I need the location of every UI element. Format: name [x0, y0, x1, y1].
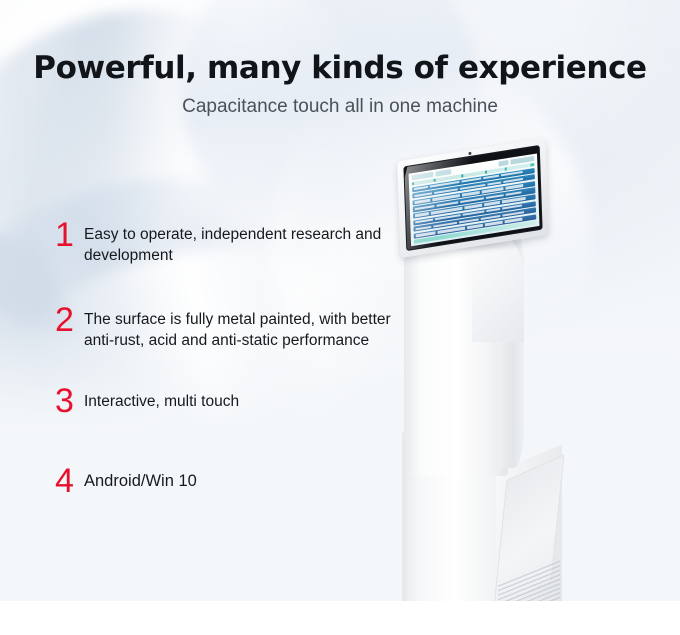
table-cell	[487, 181, 501, 186]
table-cell	[505, 218, 523, 223]
product-feature-banner: Powerful, many kinds of experience Capac…	[0, 0, 680, 635]
table-cell	[459, 218, 479, 224]
table-cell	[414, 186, 428, 191]
table-cell	[467, 224, 483, 229]
table-cell	[505, 184, 523, 189]
feature-text-3: Interactive, multi touch	[84, 386, 239, 412]
table-cell	[483, 175, 499, 180]
camera-icon	[468, 151, 471, 154]
table-cell	[414, 192, 432, 197]
table-cell	[485, 221, 503, 226]
feature-item-3: 3 Interactive, multi touch	[55, 386, 239, 416]
feature-number-4: 4	[55, 466, 75, 496]
kiosk-product-image	[380, 140, 610, 600]
feature-item-4: 4 Android/Win 10	[55, 466, 197, 496]
table-cell	[462, 191, 480, 196]
table-cell	[415, 218, 433, 223]
table-cell	[415, 225, 431, 230]
table-cell	[486, 194, 504, 199]
feature-number-1: 1	[55, 220, 75, 250]
banner-subtitle: Capacitance touch all in one machine	[0, 96, 680, 118]
feature-text-4: Android/Win 10	[84, 466, 197, 492]
table-cell	[415, 212, 429, 217]
table-cell	[481, 214, 501, 220]
banner-title: Powerful, many kinds of experience	[0, 50, 680, 86]
table-cell	[464, 204, 482, 209]
toolbar-chip	[499, 160, 509, 167]
monitor-glass[interactable]	[403, 145, 542, 251]
bottom-white-strip	[0, 601, 680, 635]
feature-item-1: 1 Easy to operate, independent research …	[55, 220, 404, 266]
table-cell	[415, 199, 431, 204]
feature-text-2: The surface is fully metal painted, with…	[84, 305, 404, 351]
screen-content[interactable]	[409, 153, 540, 246]
table-cell	[506, 191, 522, 196]
table-cell	[484, 201, 500, 206]
table-cell	[486, 208, 500, 213]
feature-number-3: 3	[55, 386, 75, 416]
feature-text-1: Easy to operate, independent research an…	[84, 220, 404, 266]
feature-item-2: 2 The surface is fully metal painted, wi…	[55, 305, 404, 351]
feature-number-2: 2	[55, 305, 75, 335]
